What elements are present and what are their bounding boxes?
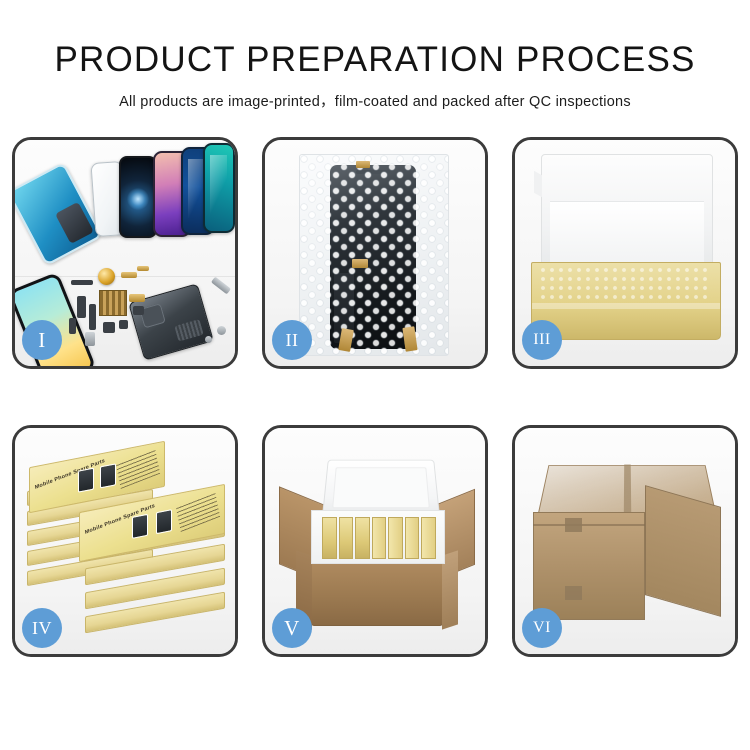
retail-box-item <box>372 517 387 559</box>
foam-box-interior <box>311 510 445 564</box>
process-step-card-6: VI <box>512 425 738 657</box>
spare-part-icon <box>85 332 95 346</box>
carton-seam <box>533 524 645 526</box>
retail-box-row <box>322 517 436 559</box>
spare-part-icon <box>121 272 137 278</box>
spare-part-icon <box>71 280 93 285</box>
screwdriver-icon <box>211 277 231 295</box>
step-badge-4: IV <box>22 608 62 648</box>
phone-dark-screen-icon <box>119 156 157 238</box>
box-artwork-thumbnail <box>156 509 172 534</box>
phone-green-icon <box>203 143 235 233</box>
process-step-card-2: II <box>262 137 488 369</box>
carton-side-face <box>645 485 721 617</box>
foam-lid-icon <box>322 460 440 518</box>
spare-part-icon <box>119 320 128 329</box>
process-step-card-5: V <box>262 425 488 657</box>
spare-part-icon <box>137 266 149 271</box>
chip-grid-icon <box>99 290 127 316</box>
retail-box-item <box>405 517 420 559</box>
bubble-wrap-bag <box>299 154 449 356</box>
retail-box-item <box>421 517 436 559</box>
screw-icon <box>205 336 212 343</box>
box-spec-text-block <box>116 449 160 489</box>
page-subtitle: All products are image-printed，film-coat… <box>0 90 750 111</box>
screw-icon <box>217 326 226 335</box>
tape-icon <box>565 586 582 600</box>
box-tray-icon <box>531 262 721 340</box>
tape-icon <box>565 518 582 532</box>
product-preparation-infographic: PRODUCT PREPARATION PROCESS All products… <box>0 0 750 750</box>
retail-box-item <box>322 517 337 559</box>
kraft-inner-box <box>531 154 721 344</box>
box-spec-text-block <box>176 492 220 532</box>
phone-teal-icon <box>15 162 103 266</box>
spare-part-icon <box>69 318 76 334</box>
step-badge-6: VI <box>522 608 562 648</box>
tape-icon <box>356 161 370 168</box>
box-artwork-thumbnail <box>132 514 148 539</box>
sealed-shipping-carton <box>529 458 725 624</box>
foam-lid-icon <box>541 154 713 272</box>
step-badge-1: I <box>22 320 62 360</box>
box-artwork-thumbnail <box>78 468 94 493</box>
process-step-card-1: I <box>12 137 238 369</box>
tape-icon <box>352 259 368 268</box>
spare-part-icon <box>103 322 115 333</box>
retail-box-lid-label: Mobile Phone Spare Parts <box>34 458 105 491</box>
spare-part-icon <box>89 304 96 330</box>
bubble-texture <box>300 155 448 355</box>
process-step-card-4: Mobile Phone Spare Parts Mobile Phone Sp… <box>12 425 238 657</box>
spare-part-icon <box>77 296 86 318</box>
spare-part-icon <box>129 294 145 302</box>
spare-part-icon <box>133 306 144 315</box>
step-badge-2: II <box>272 320 312 360</box>
page-title: PRODUCT PREPARATION PROCESS <box>0 42 750 79</box>
carton-front-face <box>533 512 645 620</box>
retail-box-item <box>388 517 403 559</box>
step-badge-3: III <box>522 320 562 360</box>
step-badge-5: V <box>272 608 312 648</box>
retail-box-item <box>355 517 370 559</box>
process-step-grid: I II <box>12 137 738 657</box>
header: PRODUCT PREPARATION PROCESS All products… <box>0 0 750 111</box>
retail-box-stack: Mobile Phone Spare Parts Mobile Phone Sp… <box>27 446 225 634</box>
retail-box-item <box>339 517 354 559</box>
open-carton <box>279 456 475 630</box>
process-step-card-3: III <box>512 137 738 369</box>
box-artwork-thumbnail <box>100 463 116 488</box>
vibration-motor-icon <box>98 268 115 285</box>
